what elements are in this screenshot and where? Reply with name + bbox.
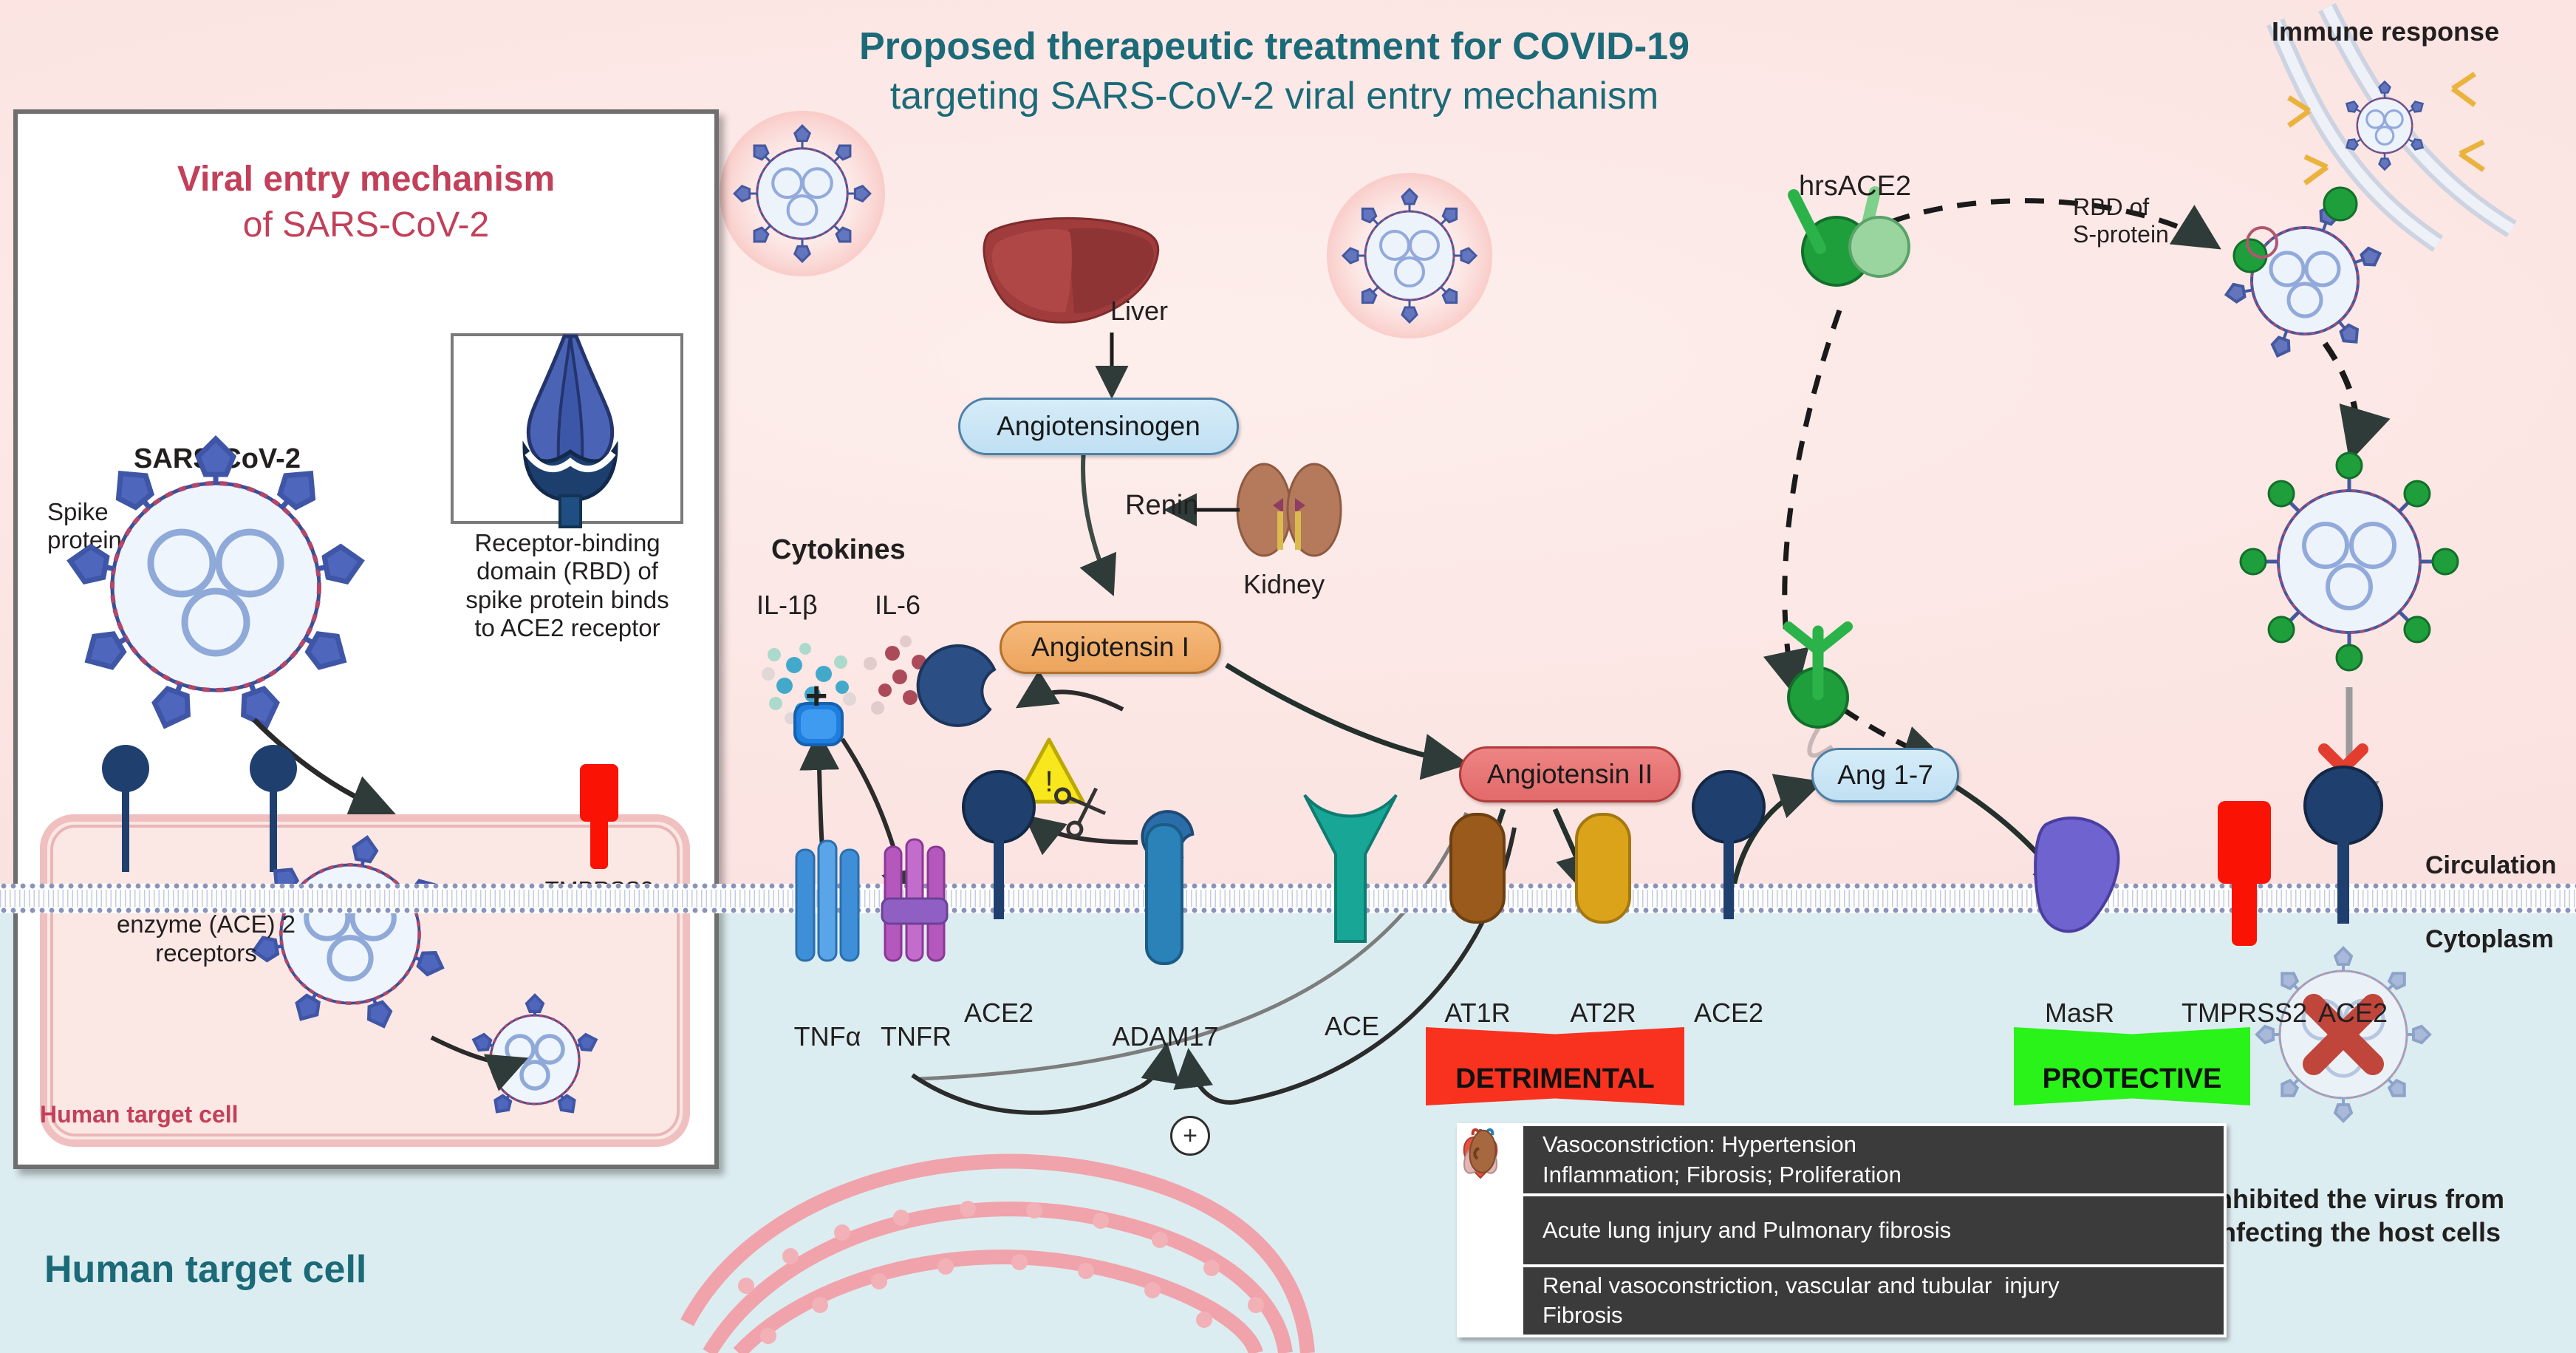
diagram-canvas: ! Proposed therapeutic treatment for COV…	[0, 0, 2576, 1353]
label-at1r: AT1R	[1415, 998, 1540, 1029]
masr-icon	[2035, 818, 2118, 931]
at2r-icon	[1576, 814, 1630, 922]
legend-row: Renal vasoconstriction, vascular and tub…	[1523, 1267, 2224, 1335]
tnfr-icon	[882, 839, 947, 961]
ace2-b-icon	[1693, 771, 1764, 919]
label-ace: ACE	[1289, 1011, 1415, 1042]
adam17-icon	[1147, 825, 1182, 964]
label-adam17: ADAM17	[1086, 1021, 1245, 1052]
plus-adam17-symbol: +	[1170, 1116, 1210, 1156]
lungs-icon	[1460, 1196, 1523, 1265]
legend-row: Vasoconstriction: Hypertension Inflammat…	[1523, 1126, 2224, 1196]
label-ace2-b: ACE2	[1666, 998, 1791, 1029]
label-at2r: AT2R	[1540, 998, 1666, 1029]
ace-icon	[1305, 795, 1396, 941]
protective-banner: PROTECTIVE	[2014, 1027, 2250, 1105]
tmprss2-icon	[2218, 801, 2271, 946]
at1r-icon	[1451, 814, 1504, 922]
label-ace2-a: ACE2	[932, 998, 1065, 1029]
ace2-c-icon	[2305, 767, 2382, 924]
ace2-a-icon	[963, 771, 1034, 919]
legend-text-column: Vasoconstriction: Hypertension Inflammat…	[1523, 1126, 2224, 1335]
label-ace2-c: ACE2	[2290, 998, 2416, 1029]
detrimental-banner: DETRIMENTAL	[1426, 1027, 1684, 1105]
label-masr: MasR	[2017, 998, 2142, 1029]
effects-legend: Vasoconstriction: Hypertension Inflammat…	[1457, 1123, 2227, 1337]
legend-row: Acute lung injury and Pulmonary fibrosis	[1523, 1196, 2224, 1267]
legend-icon-column	[1460, 1126, 1523, 1335]
kidney-icon	[1460, 1265, 1523, 1335]
tnfa-icon	[796, 841, 858, 961]
